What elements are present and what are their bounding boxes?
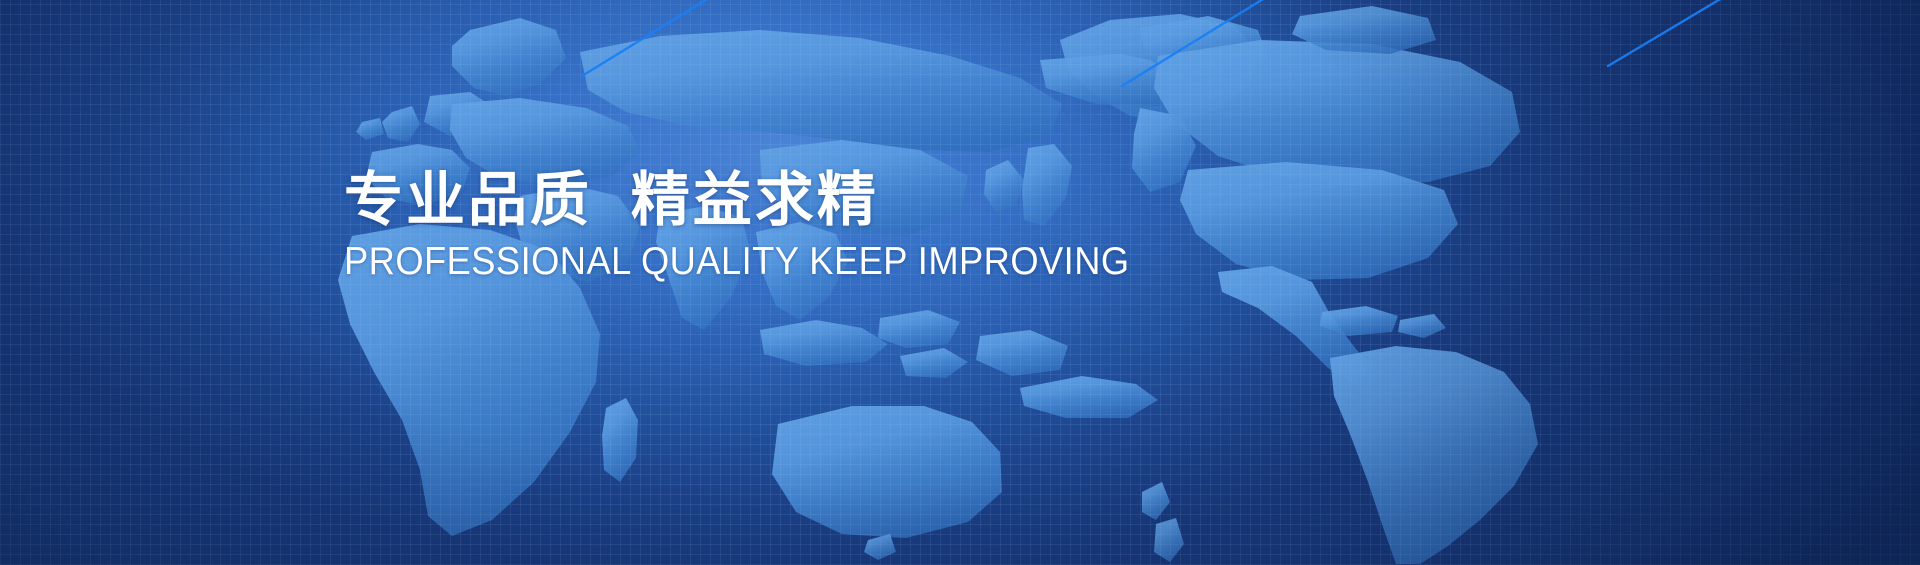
streak-line-2 — [1122, 0, 1346, 86]
banner-headline-chinese: 专业品质 精益求精 — [344, 166, 1444, 234]
streak-line-1 — [582, 0, 800, 76]
banner-subheadline-english: PROFESSIONAL QUALITY KEEP IMPROVING — [344, 234, 1367, 285]
banner-text-block: 专业品质 精益求精 PROFESSIONAL QUALITY KEEP IMPR… — [344, 166, 1444, 285]
streak-line-3 — [1608, 0, 1826, 66]
hero-banner: 专业品质 精益求精 PROFESSIONAL QUALITY KEEP IMPR… — [0, 0, 1920, 565]
